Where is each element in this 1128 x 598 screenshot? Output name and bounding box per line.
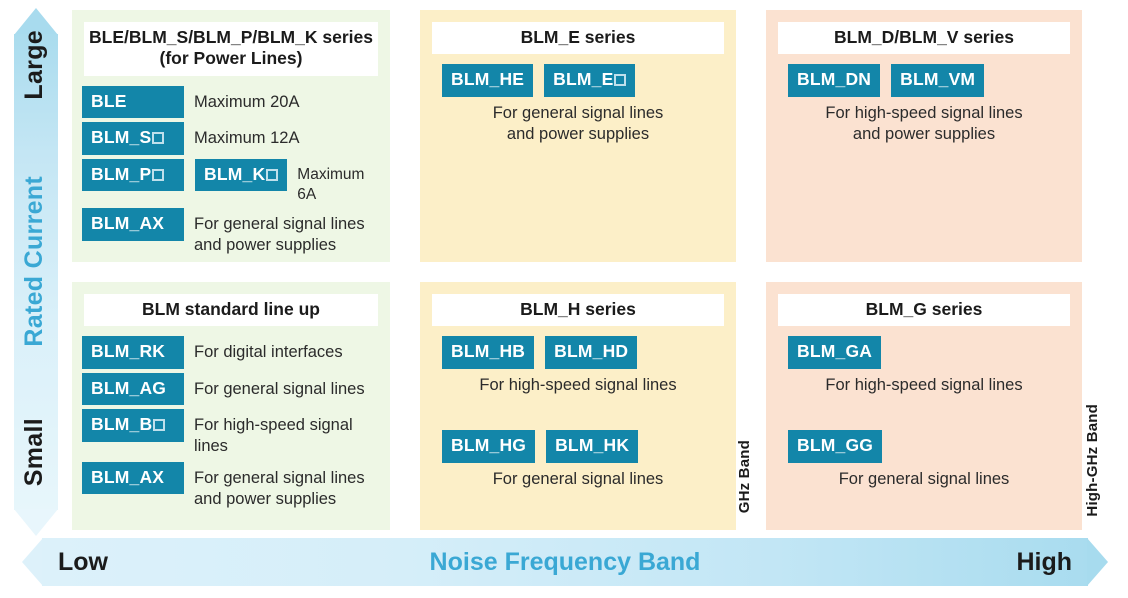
rated-current-axis: Large Rated Current Small [14, 8, 58, 536]
series-row: BLM_B For high-speed signal lines [82, 409, 380, 457]
series-badge[interactable]: BLM_HE [442, 64, 533, 97]
placeholder-square-icon [152, 132, 164, 144]
panel-title: BLM standard line up [84, 294, 378, 326]
series-description: Maximum 20A [194, 86, 299, 113]
placeholder-square-icon [614, 74, 626, 86]
badge-group: BLM_GA [788, 336, 1072, 369]
panel-title: BLE/BLM_S/BLM_P/BLM_K series (for Power … [84, 22, 378, 76]
panel-blm-h-series: BLM_H series BLM_HB BLM_HD For high-spee… [420, 282, 736, 530]
series-badge[interactable]: BLM_VM [891, 64, 984, 97]
axis-title-noise-frequency-band: Noise Frequency Band [22, 548, 1108, 577]
panel-title: BLM_H series [432, 294, 724, 326]
series-description: Maximum 12A [194, 122, 299, 149]
series-description: For high-speed signal lines [194, 409, 380, 457]
badge-group: BLM_HE BLM_E [442, 64, 726, 97]
placeholder-square-icon [152, 169, 164, 181]
series-badge[interactable]: BLM_AX [82, 208, 184, 241]
series-badge[interactable]: BLM_E [544, 64, 635, 97]
series-row: BLM_AG For general signal lines [82, 373, 380, 406]
axis-label-large: Large [20, 30, 52, 100]
placeholder-square-icon [153, 419, 165, 431]
panel-title-line2: (for Power Lines) [160, 48, 303, 68]
series-row: BLM_S Maximum 12A [82, 122, 380, 155]
panel-title: BLM_D/BLM_V series [778, 22, 1070, 54]
panel-description: For high-speed signal lines and power su… [776, 103, 1072, 146]
panel-description: For general signal lines and power suppl… [430, 103, 726, 146]
series-row: BLE Maximum 20A [82, 86, 380, 119]
series-row: BLM_AX For general signal lines and powe… [82, 208, 380, 256]
badge-group: BLM_HG BLM_HK [442, 430, 726, 463]
group-spacer [430, 396, 726, 430]
series-badge[interactable]: BLM_HG [442, 430, 535, 463]
panel-description: For high-speed signal lines [430, 375, 726, 396]
series-badge[interactable]: BLE [82, 86, 184, 119]
placeholder-square-icon [266, 169, 278, 181]
series-badge[interactable]: BLM_AG [82, 373, 184, 406]
series-badge[interactable]: BLM_GG [788, 430, 882, 463]
badge-group: BLM_DN BLM_VM [788, 64, 1072, 97]
series-badge[interactable]: BLM_S [82, 122, 184, 155]
axis-label-small: Small [20, 418, 52, 486]
axis-title-rated-current: Rated Current [20, 176, 52, 347]
panel-blm-standard-lineup: BLM standard line up BLM_RK For digital … [72, 282, 390, 530]
series-row: BLM_P BLM_K Maximum 6A [82, 159, 380, 205]
series-badge[interactable]: BLM_DN [788, 64, 880, 97]
panel-blm-g-series: BLM_G series BLM_GA For high-speed signa… [766, 282, 1082, 530]
series-row: BLM_AX For general signal lines and powe… [82, 462, 380, 510]
group-spacer [776, 396, 1072, 430]
noise-frequency-band-axis: Low Noise Frequency Band High [22, 538, 1108, 586]
panel-description: For general signal lines [430, 469, 726, 490]
panel-power-lines-series: BLE/BLM_S/BLM_P/BLM_K series (for Power … [72, 10, 390, 262]
axis-label-high: High [1016, 548, 1072, 577]
series-description: For general signal lines [194, 373, 365, 400]
panel-blm-e-series: BLM_E series BLM_HE BLM_E For general si… [420, 10, 736, 262]
series-badge[interactable]: BLM_K [195, 159, 287, 192]
axis-arrow-head-down [14, 509, 58, 536]
series-description: For general signal lines and power suppl… [194, 208, 365, 256]
panel-title: BLM_G series [778, 294, 1070, 326]
panel-description: For general signal lines [776, 469, 1072, 490]
series-badge[interactable]: BLM_B [82, 409, 184, 442]
series-badge[interactable]: BLM_HD [545, 336, 637, 369]
series-badge[interactable]: BLM_RK [82, 336, 184, 369]
badge-group: BLM_HB BLM_HD [442, 336, 726, 369]
series-description: For digital interfaces [194, 336, 343, 363]
panel-blm-d-v-series: BLM_D/BLM_V series BLM_DN BLM_VM For hig… [766, 10, 1082, 262]
panel-title-line1: BLE/BLM_S/BLM_P/BLM_K series [89, 27, 373, 47]
series-badge[interactable]: BLM_GA [788, 336, 881, 369]
series-badge[interactable]: BLM_P [82, 159, 184, 192]
band-label-high-ghz: High-GHz Band [1084, 404, 1101, 517]
series-badge[interactable]: BLM_HB [442, 336, 534, 369]
series-description: For general signal lines and power suppl… [194, 462, 365, 510]
series-badge[interactable]: BLM_AX [82, 462, 184, 495]
series-row: BLM_RK For digital interfaces [82, 336, 380, 369]
band-label-ghz: GHz Band [736, 440, 753, 513]
panel-description: For high-speed signal lines [776, 375, 1072, 396]
badge-group: BLM_GG [788, 430, 1072, 463]
panel-title: BLM_E series [432, 22, 724, 54]
series-badge[interactable]: BLM_HK [546, 430, 638, 463]
series-description: Maximum 6A [297, 159, 380, 205]
